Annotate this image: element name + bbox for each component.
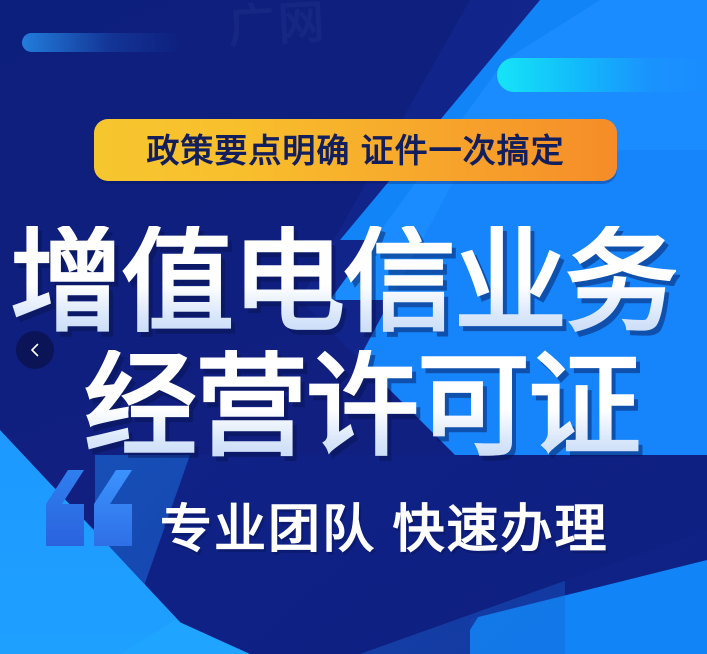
carousel-prev-button[interactable]	[16, 331, 54, 369]
quote-mark-stroke-1	[46, 470, 84, 546]
chevron-left-icon	[27, 342, 43, 358]
quote-mark-stroke-2	[94, 470, 132, 546]
quote-mark-icon	[46, 470, 156, 550]
accent-bar-left	[22, 33, 182, 52]
promo-banner: 广网 政策要点明确 证件一次搞定 增值电信业务 经营许可证 专业团队 快速办理	[0, 0, 707, 654]
tagline-pill: 政策要点明确 证件一次搞定	[94, 119, 617, 181]
accent-bar-cyan	[497, 58, 707, 92]
headline-line-1: 增值电信业务	[10, 226, 676, 339]
subtitle-text: 专业团队 快速办理	[160, 504, 608, 556]
watermark-text: 广网	[226, 0, 329, 57]
tagline-pill-text: 政策要点明确 证件一次搞定	[146, 134, 564, 167]
headline-line-2: 经营许可证	[84, 350, 639, 463]
